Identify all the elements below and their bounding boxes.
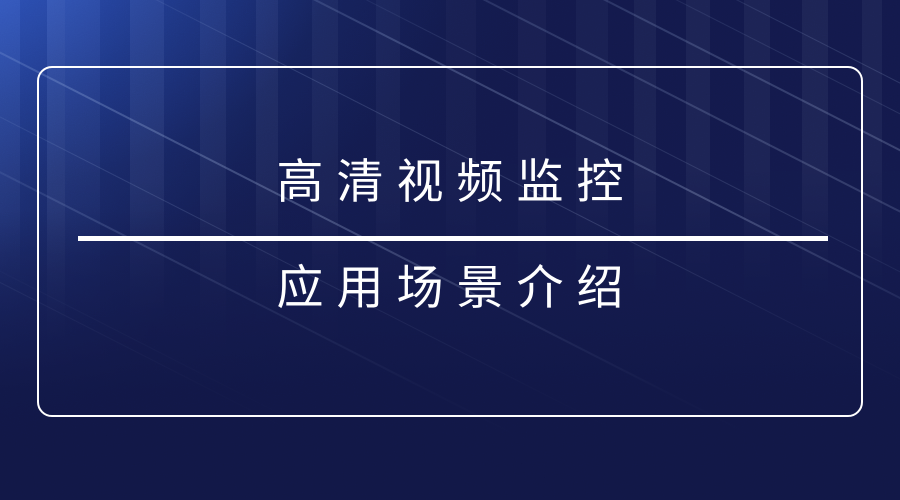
slide-content: 高清视频监控 应用场景介绍 [0,0,900,500]
slide-title-primary: 高清视频监控 [0,159,900,206]
slide-title-secondary: 应用场景介绍 [0,265,900,312]
title-divider [78,236,828,241]
presentation-slide: 高清视频监控 应用场景介绍 [0,0,900,500]
